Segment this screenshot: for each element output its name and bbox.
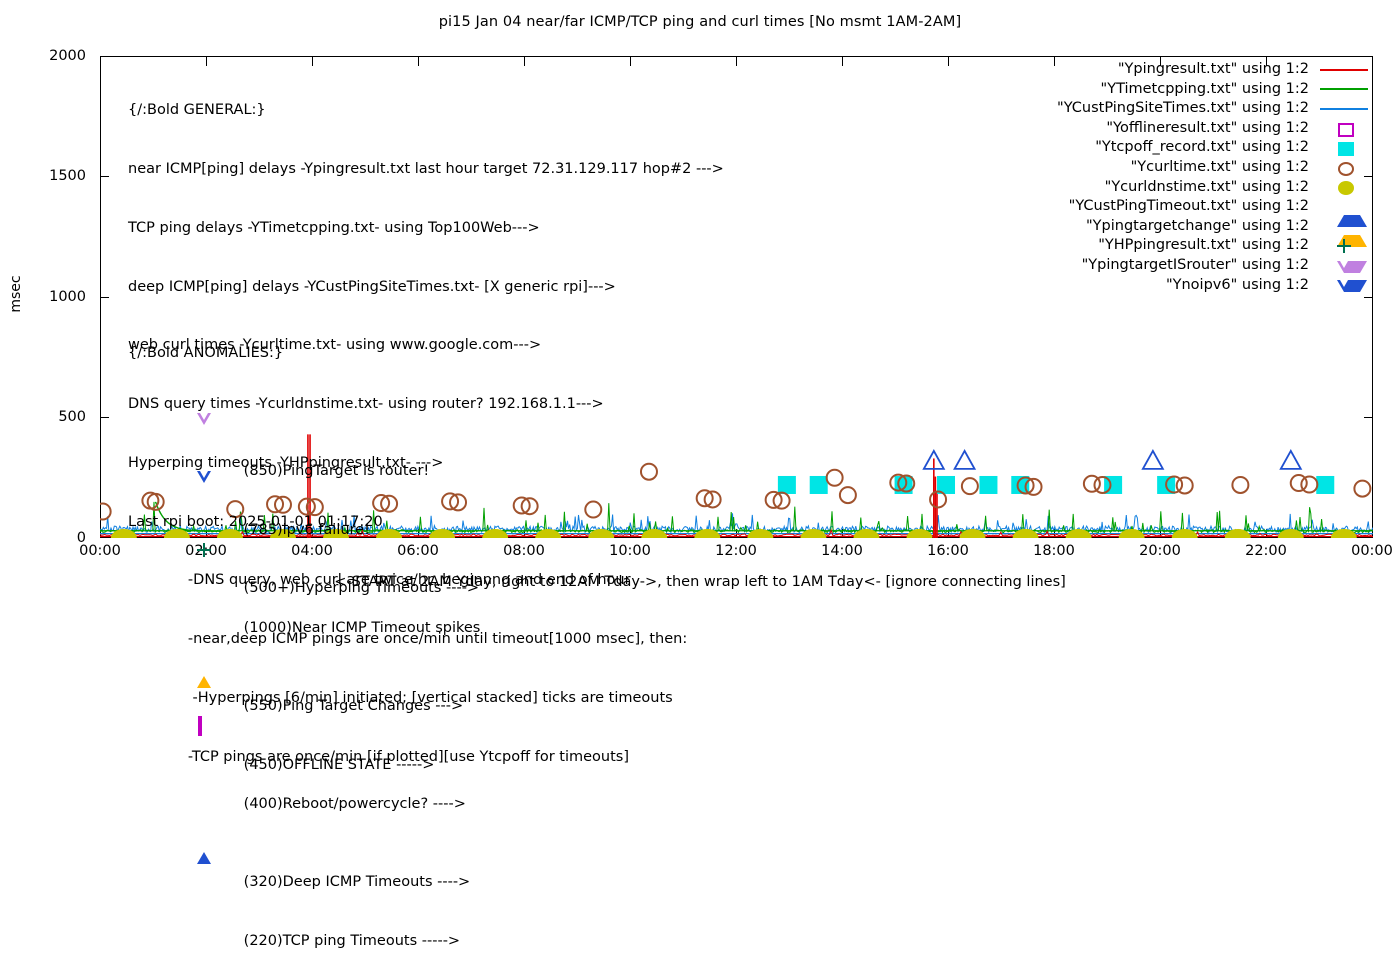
y-tick-label-500: 500 — [8, 409, 86, 425]
anomaly-label: (220)TCP ping Timeouts -----> — [156, 932, 460, 952]
legend-entry: "Ytcpoff_record.txt" using 1:2 — [1057, 138, 1373, 158]
legend-label: "YHPpingresult.txt" using 1:2 — [1098, 236, 1309, 256]
legend-entry: "YCustPingTimeout.txt" using 1:2 — [1057, 197, 1373, 217]
x-tick-label-7: 14:00 — [802, 543, 882, 559]
chart-root: pi15 Jan 04 near/far ICMP/TCP ping and c… — [0, 0, 1400, 600]
legend-key-line — [1315, 102, 1373, 116]
chart-title: pi15 Jan 04 near/far ICMP/TCP ping and c… — [0, 14, 1400, 30]
anomaly-row: (220)TCP ping Timeouts -----> — [128, 893, 480, 913]
legend-entry: "Yofflineresult.txt" using 1:2 — [1057, 119, 1373, 139]
legend-label: "Ynoipv6" using 1:2 — [1166, 276, 1309, 296]
legend-entry: "Ycurldnstime.txt" using 1:2 — [1057, 178, 1373, 198]
legend-entry: "YCustPingSiteTimes.txt" using 1:2 — [1057, 99, 1373, 119]
x-tick-label-10: 20:00 — [1120, 543, 1200, 559]
up-triangle-open-blue-icon — [196, 835, 214, 852]
anomalies-header: {/:Bold ANOMALIES:} — [128, 344, 480, 364]
anomaly-row: (550)Ping Target Changes ---> — [128, 658, 480, 678]
legend-entry: "YTimetcpping.txt" using 1:2 — [1057, 80, 1373, 100]
legend-label: "Ycurldnstime.txt" using 1:2 — [1105, 178, 1309, 198]
legend-label: "YpingtargetISrouter" using 1:2 — [1082, 256, 1309, 276]
general-line-0: near ICMP[ping] delays -Ypingresult.txt … — [128, 160, 724, 180]
legend-key-open-square — [1315, 122, 1373, 136]
anomaly-label: (320)Deep ICMP Timeouts ----> — [156, 873, 471, 893]
legend-key-down-triangle-magenta — [1315, 259, 1373, 273]
legend-label: "YCustPingTimeout.txt" using 1:2 — [1069, 197, 1309, 217]
legend-key-line — [1315, 82, 1373, 96]
anomalies-annotation-block: {/:Bold ANOMALIES:} (850)PingTarget is r… — [128, 305, 480, 952]
down-triangle-blue-icon — [196, 482, 214, 499]
legend-key-open-circle — [1315, 161, 1373, 175]
anomaly-row: (320)Deep ICMP Timeouts ----> — [128, 834, 480, 854]
anomaly-row: (1000)Near ICMP Timeout spikes — [128, 599, 480, 619]
legend: "Ypingresult.txt" using 1:2 "YTimetcppin… — [1057, 60, 1373, 295]
general-line-1: TCP ping delays -YTimetcpping.txt- using… — [128, 219, 724, 239]
legend-key-down-triangle-blue — [1315, 278, 1373, 292]
anomaly-label: (450)OFFLINE STATE -----> — [156, 756, 435, 776]
down-triangle-magenta-icon — [196, 424, 214, 441]
legend-entry: "YHPpingresult.txt" using 1:2 — [1057, 236, 1373, 256]
up-triangle-filled-orange-icon — [196, 659, 214, 676]
legend-entry: "Ypingtargetchange" using 1:2 — [1057, 217, 1373, 237]
anomaly-row: (500+)Hyperping Timeouts ----> — [128, 540, 480, 560]
legend-key-filled-circle — [1315, 180, 1373, 194]
general-header: {/:Bold GENERAL:} — [128, 101, 724, 121]
legend-entry: "Ypingresult.txt" using 1:2 — [1057, 60, 1373, 80]
legend-label: "Ypingresult.txt" using 1:2 — [1118, 60, 1309, 80]
anomaly-label: (550)Ping Target Changes ---> — [156, 697, 463, 717]
legend-key-up-triangle-filled — [1315, 220, 1373, 234]
x-tick-label-8: 16:00 — [908, 543, 988, 559]
legend-label: "Ytcpoff_record.txt" using 1:2 — [1095, 138, 1309, 158]
legend-label: "Ycurltime.txt" using 1:2 — [1131, 158, 1309, 178]
plus-green-icon — [196, 541, 214, 558]
anomaly-row: (785)ipv6 failure! — [128, 481, 480, 501]
x-tick-label-11: 22:00 — [1226, 543, 1306, 559]
legend-key-filled-square — [1315, 141, 1373, 155]
anomaly-label: (785)ipv6 failure! — [156, 521, 370, 541]
legend-entry: "Ycurltime.txt" using 1:2 — [1057, 158, 1373, 178]
legend-label: "YCustPingSiteTimes.txt" using 1:2 — [1057, 99, 1309, 119]
legend-entry: "Ynoipv6" using 1:2 — [1057, 276, 1373, 296]
legend-key-up-triangle-open — [1315, 200, 1373, 214]
anomaly-row: (450)OFFLINE STATE -----> — [128, 716, 480, 736]
y-tick-label-1000: 1000 — [8, 289, 86, 305]
y-tick-label-2000: 2000 — [8, 48, 86, 64]
legend-key-plus — [1315, 239, 1373, 253]
anomaly-row: (400)Reboot/powercycle? ----> — [128, 775, 480, 795]
anomaly-row: (850)PingTarget is router! — [128, 423, 480, 443]
anomaly-label: (400)Reboot/powercycle? ----> — [156, 795, 466, 815]
x-tick-label-9: 18:00 — [1014, 543, 1094, 559]
x-tick-label-12: 00:00 — [1332, 543, 1400, 559]
legend-label: "Yofflineresult.txt" using 1:2 — [1106, 119, 1309, 139]
y-tick-label-1500: 1500 — [8, 168, 86, 184]
legend-label: "YTimetcpping.txt" using 1:2 — [1101, 80, 1309, 100]
filled-square-cyan-icon — [196, 894, 214, 911]
legend-entry: "YpingtargetISrouter" using 1:2 — [1057, 256, 1373, 276]
open-square-magenta-icon — [196, 717, 214, 734]
general-line-2: deep ICMP[ping] delays -YCustPingSiteTim… — [128, 278, 724, 298]
anomaly-label: (500+)Hyperping Timeouts ----> — [156, 579, 479, 599]
legend-label: "Ypingtargetchange" using 1:2 — [1086, 217, 1309, 237]
anomaly-label: (1000)Near ICMP Timeout spikes — [156, 619, 481, 639]
legend-key-line — [1315, 63, 1373, 77]
